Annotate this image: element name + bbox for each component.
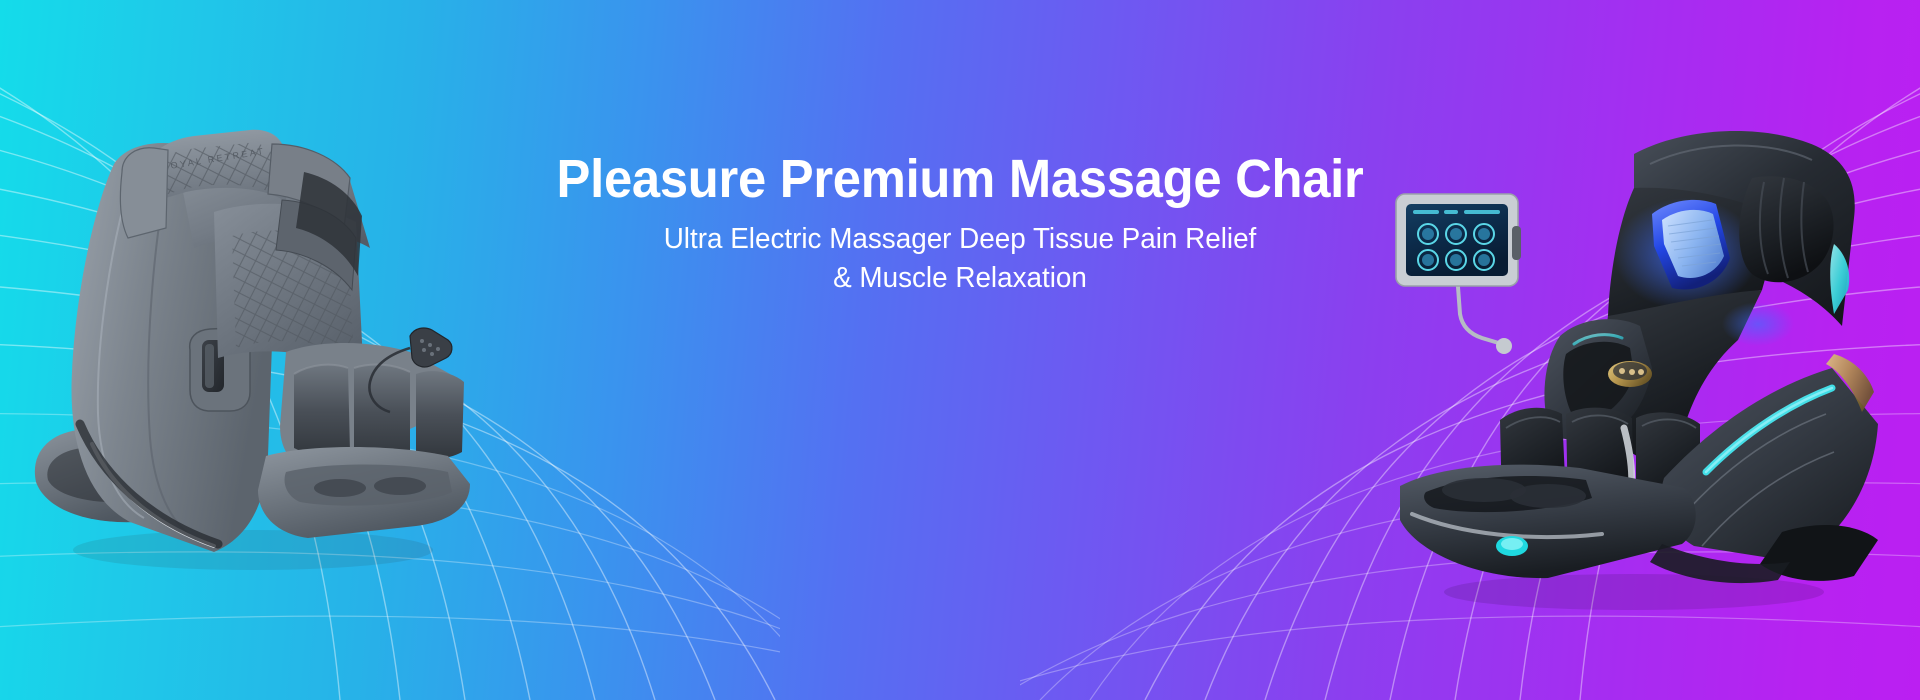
chair-left-leg-rollers: [294, 365, 464, 459]
promo-banner: ROYAL RETREAT: [0, 0, 1920, 700]
product-image-grey-massage-chair: ROYAL RETREAT: [18, 52, 488, 572]
control-tablet: [1396, 194, 1521, 354]
tablet-hinge: [1512, 226, 1521, 260]
chair-right-gold-dial: [1608, 361, 1652, 387]
product-image-black-led-massage-chair: [1334, 68, 1894, 628]
tablet-status-bar: [1413, 210, 1500, 214]
chair-left-remote: [410, 328, 452, 367]
tablet-arm-mount: [1496, 338, 1512, 354]
